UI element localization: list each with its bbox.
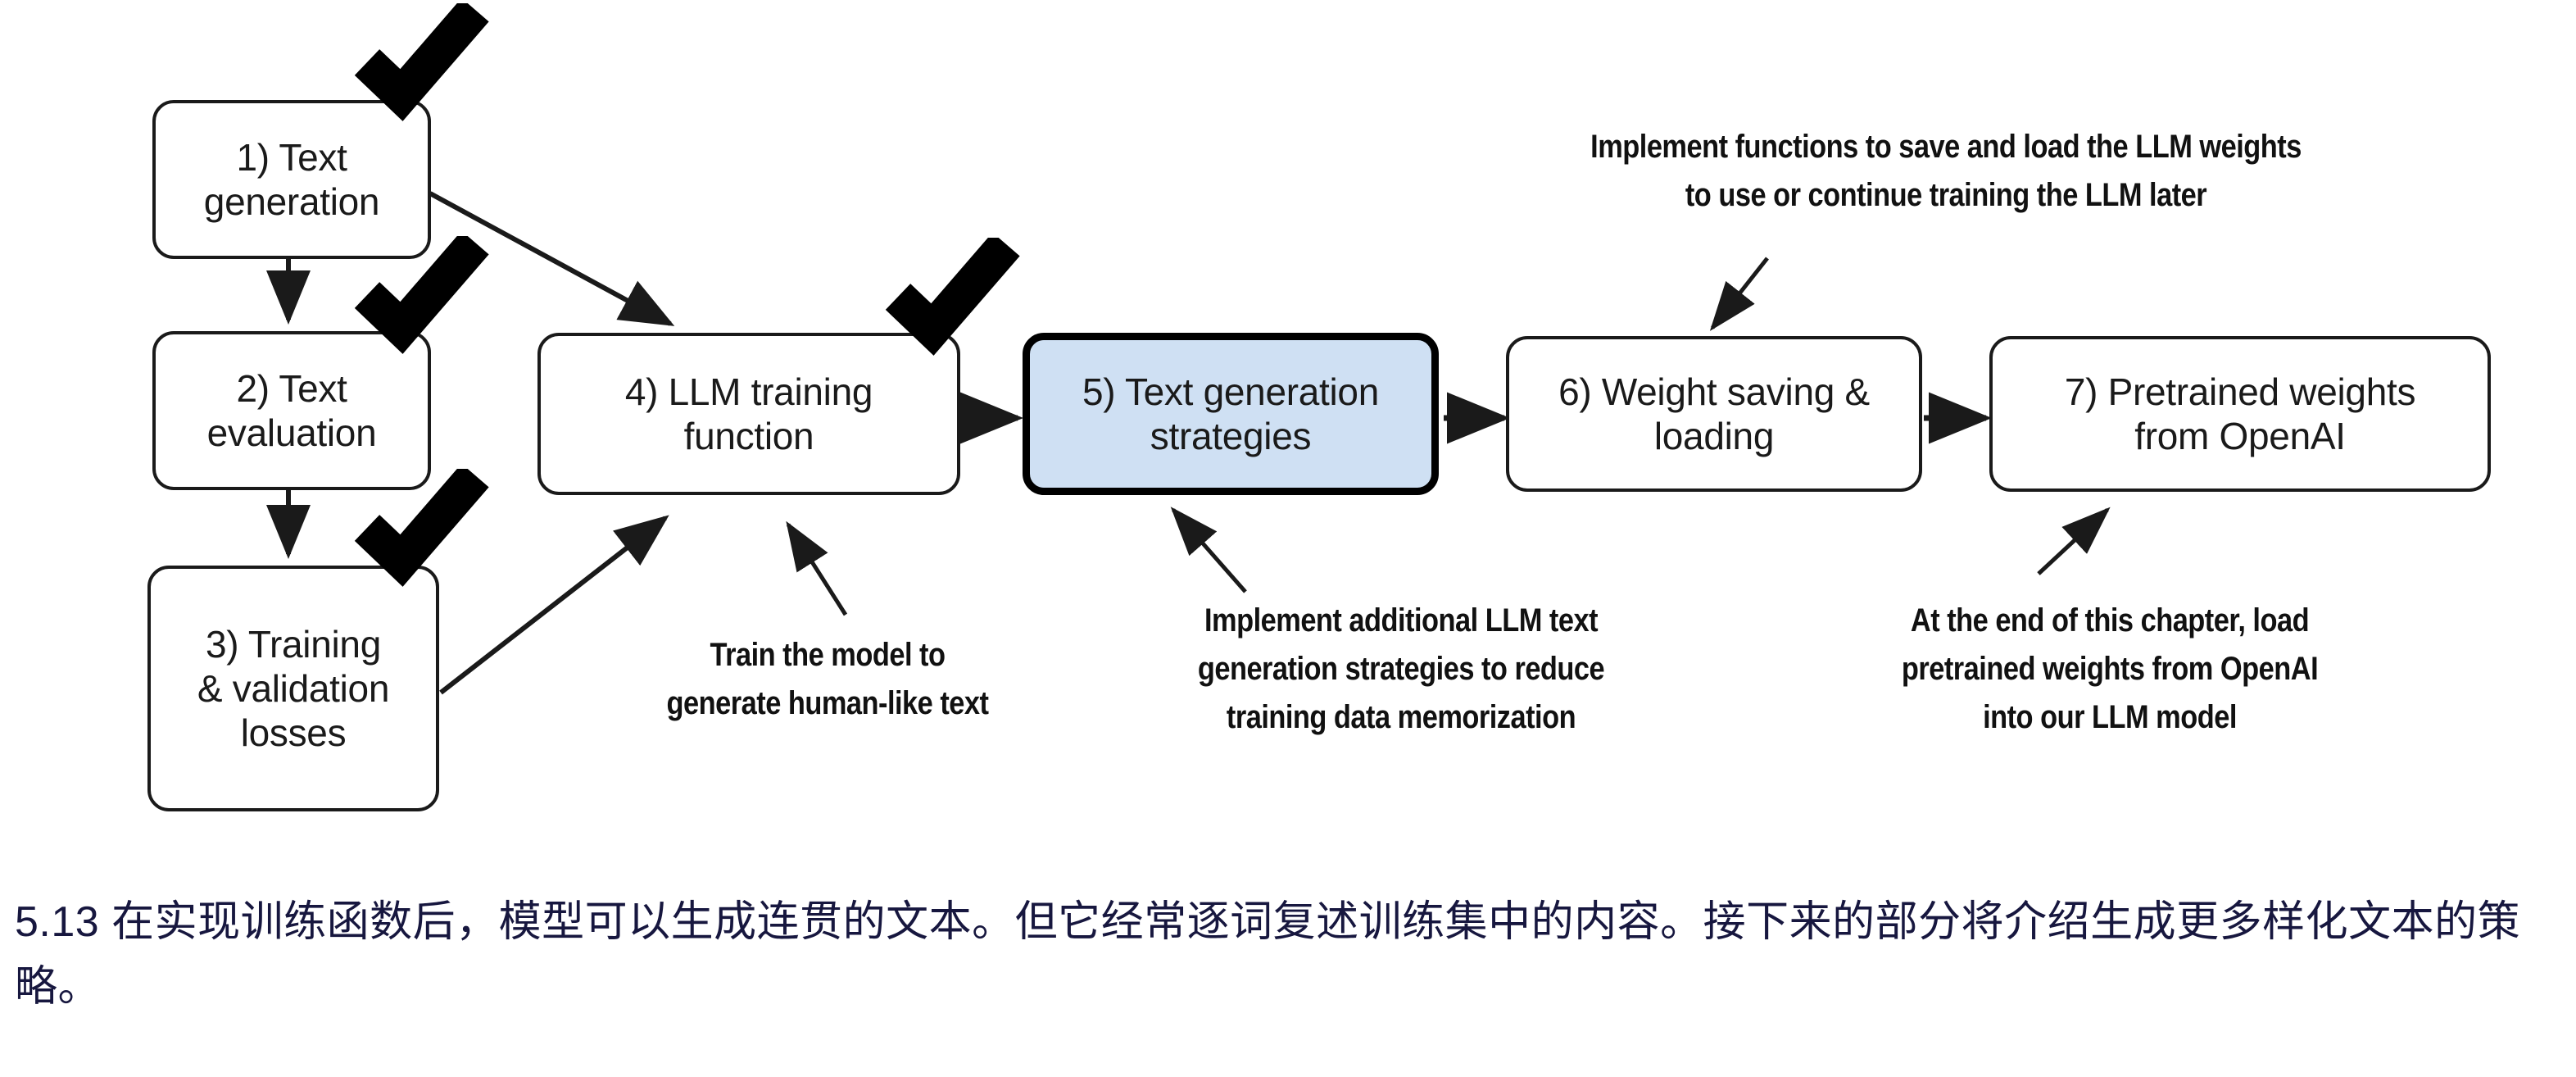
annotation-load-pretrained-weights: At the end of this chapter, load pretrai… bbox=[1853, 597, 2367, 743]
flow-node-label: 6) Weight saving & loading bbox=[1558, 370, 1870, 459]
annotation-line: Train the model to bbox=[609, 631, 1045, 679]
flow-node-llm-training-function[interactable]: 4) LLM training function bbox=[537, 333, 960, 495]
edge-n1-n4 bbox=[430, 193, 670, 324]
flow-node-text-generation[interactable]: 1) Text generation bbox=[152, 100, 431, 259]
annotation-line: to use or continue training the LLM late… bbox=[1499, 171, 2393, 220]
flow-node-label: 4) LLM training function bbox=[625, 370, 873, 459]
flow-node-text-generation-strategies[interactable]: 5) Text generation strategies bbox=[1023, 333, 1439, 495]
callout-a3-n6 bbox=[1712, 258, 1767, 328]
callout-a4-n7 bbox=[2039, 510, 2107, 574]
flow-node-label: 2) Text evaluation bbox=[207, 366, 377, 456]
annotation-save-load-weights: Implement functions to save and load the… bbox=[1499, 123, 2393, 220]
callout-a2-n5 bbox=[1173, 510, 1245, 592]
annotation-line: training data memorization bbox=[1151, 693, 1652, 742]
annotation-train-model: Train the model to generate human-like t… bbox=[609, 631, 1045, 728]
callout-a1-n4 bbox=[788, 525, 846, 615]
annotation-line: into our LLM model bbox=[1853, 693, 2367, 742]
annotation-line: pretrained weights from OpenAI bbox=[1853, 645, 2367, 693]
flow-node-label: 1) Text generation bbox=[204, 135, 379, 225]
flow-node-training-validation-losses[interactable]: 3) Training & validation losses bbox=[147, 566, 439, 811]
flow-node-label: 7) Pretrained weights from OpenAI bbox=[2065, 370, 2415, 459]
flow-node-weight-saving-loading[interactable]: 6) Weight saving & loading bbox=[1506, 336, 1922, 492]
figure-caption: 5.13 在实现训练函数后，模型可以生成连贯的文本。但它经常逐词复述训练集中的内… bbox=[15, 890, 2563, 1020]
flow-node-text-evaluation[interactable]: 2) Text evaluation bbox=[152, 331, 431, 490]
annotation-line: At the end of this chapter, load bbox=[1853, 597, 2367, 645]
annotation-line: generation strategies to reduce bbox=[1151, 645, 1652, 693]
screenshot-root: 1) Text generation 2) Text evaluation 3)… bbox=[0, 0, 2576, 1077]
annotation-line: Implement functions to save and load the… bbox=[1499, 123, 2393, 171]
flowchart-diagram: 1) Text generation 2) Text evaluation 3)… bbox=[0, 0, 2576, 852]
annotation-generation-strategies: Implement additional LLM text generation… bbox=[1151, 597, 1652, 743]
annotation-line: Implement additional LLM text bbox=[1151, 597, 1652, 645]
flow-node-label: 5) Text generation strategies bbox=[1082, 370, 1379, 459]
flow-node-label: 3) Training & validation losses bbox=[197, 622, 389, 756]
flow-node-pretrained-weights-openai[interactable]: 7) Pretrained weights from OpenAI bbox=[1989, 336, 2491, 492]
annotation-line: generate human-like text bbox=[609, 679, 1045, 728]
